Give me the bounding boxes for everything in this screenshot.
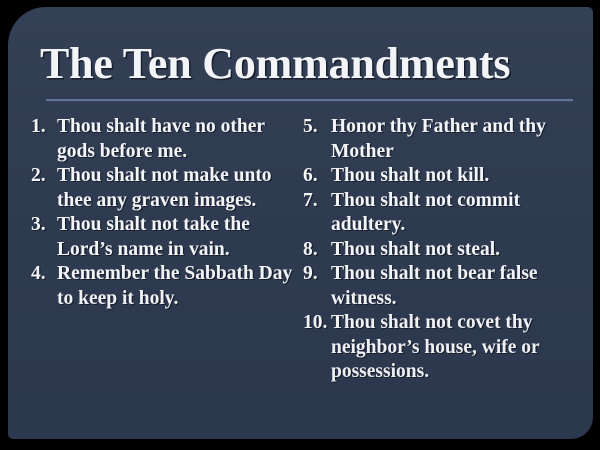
commandment-number: 8.: [303, 238, 331, 263]
commandment-number: 1.: [31, 115, 57, 140]
commandment-text: Thou shalt not covet thy neighbor’s hous…: [331, 312, 539, 382]
commandment-text: Thou shalt not take the Lord’s name in v…: [57, 214, 250, 260]
commandments-column-left: 1.Thou shalt have no other gods before m…: [8, 115, 300, 311]
commandment-number: 2.: [31, 164, 57, 189]
commandment-text: Remember the Sabbath Day to keep it holy…: [57, 263, 292, 309]
commandment-number: 3.: [31, 213, 57, 238]
commandment-number: 4.: [31, 262, 57, 287]
commandment-number: 10.: [303, 311, 331, 336]
commandment-text: Thou shalt not bear false witness.: [331, 263, 538, 309]
commandments-columns: 1.Thou shalt have no other gods before m…: [8, 115, 593, 385]
commandment-item: 8.Thou shalt not steal.: [303, 238, 585, 263]
commandment-number: 9.: [303, 262, 331, 287]
title-divider: [46, 99, 573, 101]
commandments-column-right: 5.Honor thy Father and thy Mother6.Thou …: [300, 115, 593, 385]
commandment-item: 5.Honor thy Father and thy Mother: [303, 115, 585, 164]
commandments-list-right: 5.Honor thy Father and thy Mother6.Thou …: [303, 115, 585, 385]
commandment-text: Thou shalt not kill.: [331, 165, 489, 186]
commandment-item: 6.Thou shalt not kill.: [303, 164, 585, 189]
commandment-number: 6.: [303, 164, 331, 189]
commandment-item: 7.Thou shalt not commit adultery.: [303, 189, 585, 238]
commandment-text: Thou shalt not commit adultery.: [331, 190, 520, 236]
commandment-item: 4.Remember the Sabbath Day to keep it ho…: [31, 262, 296, 311]
commandment-item: 10.Thou shalt not covet thy neighbor’s h…: [303, 311, 585, 385]
commandment-text: Honor thy Father and thy Mother: [331, 116, 546, 162]
commandment-item: 3.Thou shalt not take the Lord’s name in…: [31, 213, 296, 262]
commandments-list-left: 1.Thou shalt have no other gods before m…: [31, 115, 296, 311]
page-title: The Ten Commandments: [40, 38, 510, 90]
commandment-number: 7.: [303, 189, 331, 214]
commandment-item: 2.Thou shalt not make unto thee any grav…: [31, 164, 296, 213]
slide-canvas: The Ten Commandments 1.Thou shalt have n…: [0, 0, 600, 450]
commandment-number: 5.: [303, 115, 331, 140]
content-panel: The Ten Commandments 1.Thou shalt have n…: [8, 7, 593, 439]
commandment-text: Thou shalt not steal.: [331, 239, 500, 260]
commandment-text: Thou shalt not make unto thee any graven…: [57, 165, 272, 211]
commandment-text: Thou shalt have no other gods before me.: [57, 116, 265, 162]
commandment-item: 9.Thou shalt not bear false witness.: [303, 262, 585, 311]
commandment-item: 1.Thou shalt have no other gods before m…: [31, 115, 296, 164]
